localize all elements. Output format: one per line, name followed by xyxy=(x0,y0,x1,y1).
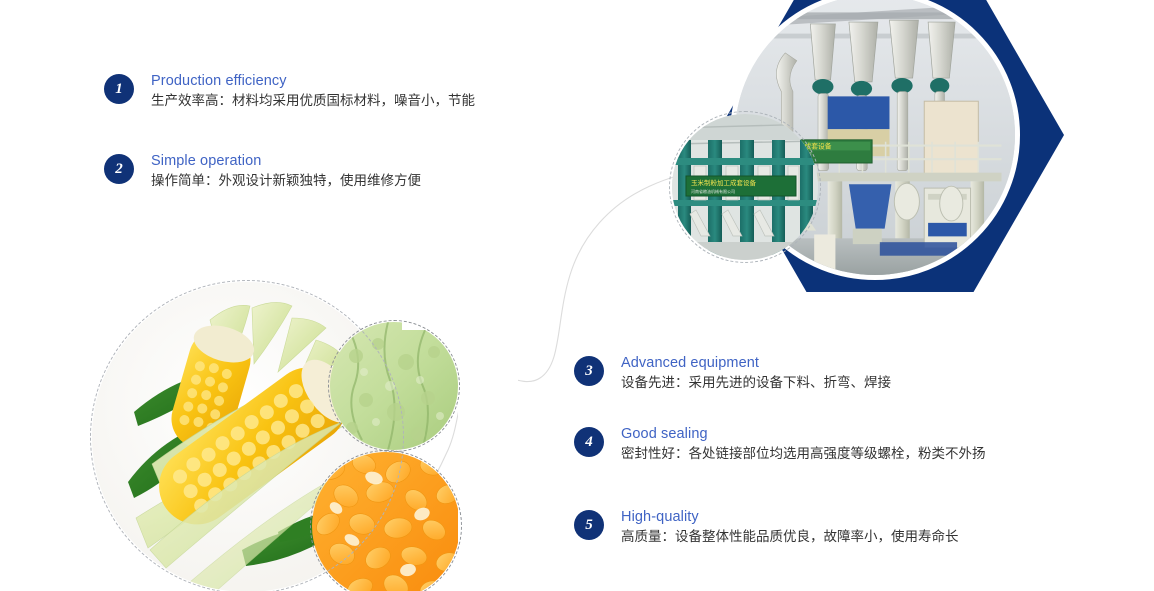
feature-badge-1: 1 xyxy=(104,74,134,104)
feature-infographic-page: 玉米制粉加工成套设备 河南省粮油机械有限公司 电话：0371-00000000 xyxy=(0,0,1154,591)
feature-title-4: Good sealing xyxy=(621,425,986,444)
feature-desc-5: 高质量：设备整体性能品质优良，故障率小，使用寿命长 xyxy=(621,527,959,548)
feature-item-4[interactable]: 4 Good sealing 密封性好：各处链接部位均选用高强度等级螺栓，粉类不… xyxy=(574,425,986,465)
feature-item-5[interactable]: 5 High-quality 高质量：设备整体性能品质优良，故障率小，使用寿命长 xyxy=(574,508,959,548)
feature-desc-1: 生产效率高：材料均采用优质国标材料，噪音小，节能 xyxy=(151,91,475,112)
feature-text-2: Simple operation 操作简单：外观设计新颖独特，使用维修方便 xyxy=(151,152,421,192)
svg-text:玉米制粉加工成套设备: 玉米制粉加工成套设备 xyxy=(691,178,757,187)
feature-text-1: Production efficiency 生产效率高：材料均采用优质国标材料，… xyxy=(151,72,475,112)
feature-badge-3: 3 xyxy=(574,356,604,386)
feature-title-2: Simple operation xyxy=(151,152,421,171)
feature-text-3: Advanced equipment 设备先进：采用先进的设备下料、折弯、焊接 xyxy=(621,354,891,394)
feature-title-3: Advanced equipment xyxy=(621,354,891,373)
teal-machine-illustration: 玉米制粉加工成套设备 河南省粮油机械有限公司 xyxy=(672,114,818,260)
svg-text:河南省粮油机械有限公司: 河南省粮油机械有限公司 xyxy=(691,188,735,194)
feature-badge-5: 5 xyxy=(574,510,604,540)
teal-milling-machine-photo: 玉米制粉加工成套设备 河南省粮油机械有限公司 xyxy=(672,114,818,260)
green-paste-illustration xyxy=(330,322,458,450)
feature-item-1[interactable]: 1 Production efficiency 生产效率高：材料均采用优质国标材… xyxy=(104,72,475,112)
corn-kernels-illustration xyxy=(312,452,460,591)
green-corn-paste-photo xyxy=(330,322,458,450)
feature-item-2[interactable]: 2 Simple operation 操作简单：外观设计新颖独特，使用维修方便 xyxy=(104,152,421,192)
feature-badge-4: 4 xyxy=(574,427,604,457)
feature-text-4: Good sealing 密封性好：各处链接部位均选用高强度等级螺栓，粉类不外扬 xyxy=(621,425,986,465)
overlap-mask-b xyxy=(458,300,518,591)
feature-desc-2: 操作简单：外观设计新颖独特，使用维修方便 xyxy=(151,171,421,192)
feature-desc-3: 设备先进：采用先进的设备下料、折弯、焊接 xyxy=(621,373,891,394)
feature-text-5: High-quality 高质量：设备整体性能品质优良，故障率小，使用寿命长 xyxy=(621,508,959,548)
feature-title-5: High-quality xyxy=(621,508,959,527)
corn-kernels-photo xyxy=(312,452,460,591)
feature-title-1: Production efficiency xyxy=(151,72,475,91)
feature-desc-4: 密封性好：各处链接部位均选用高强度等级螺栓，粉类不外扬 xyxy=(621,444,986,465)
feature-item-3[interactable]: 3 Advanced equipment 设备先进：采用先进的设备下料、折弯、焊… xyxy=(574,354,891,394)
feature-badge-2: 2 xyxy=(104,154,134,184)
